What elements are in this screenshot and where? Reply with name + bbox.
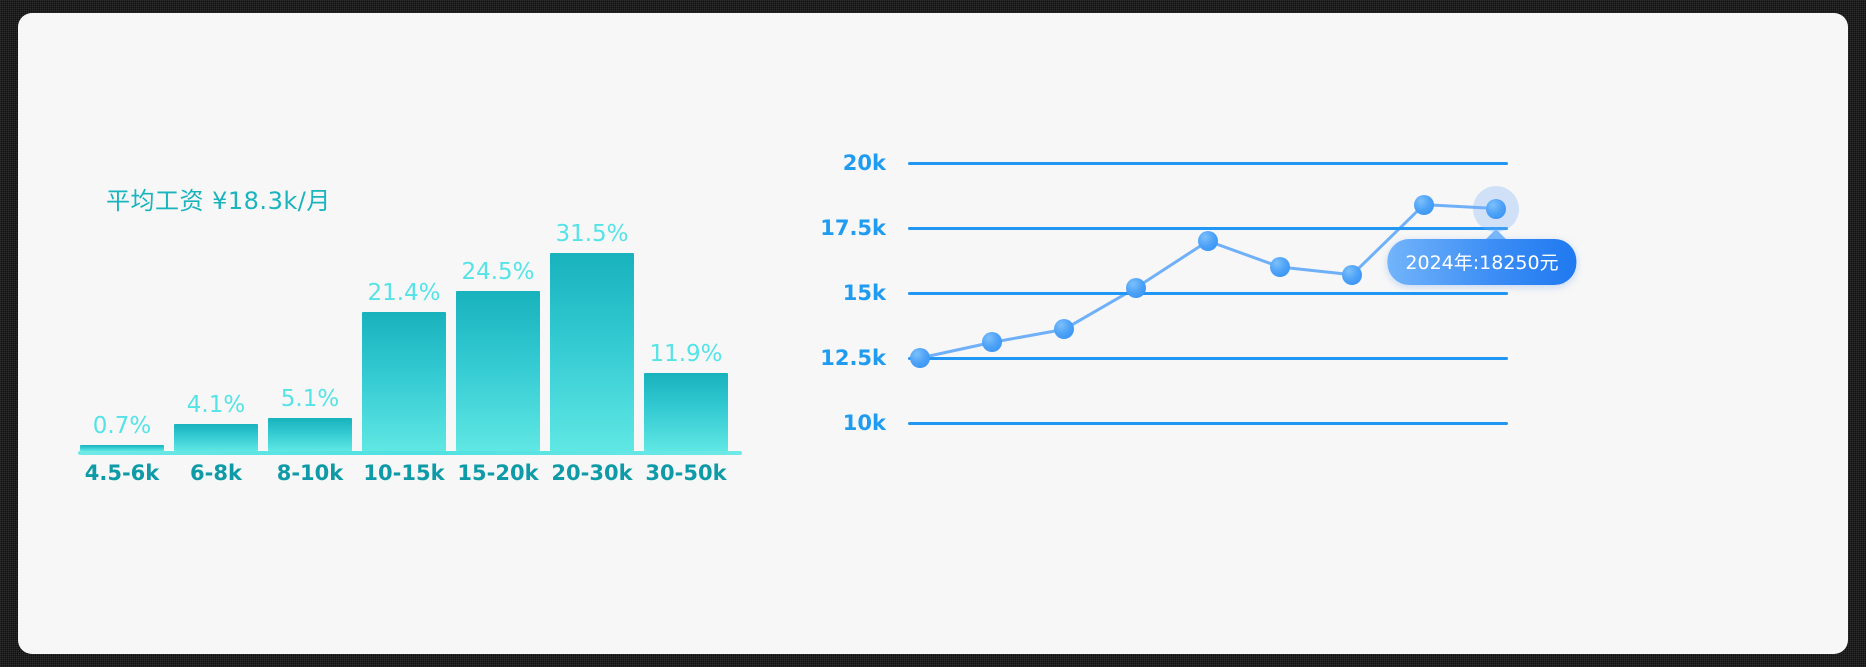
bar-group[interactable]: 31.5% xyxy=(550,223,634,451)
bar-rect[interactable] xyxy=(550,253,634,451)
y-axis-tick-label: 20k xyxy=(798,151,886,175)
bar-rect[interactable] xyxy=(174,424,258,451)
bar-category-label: 30-50k xyxy=(631,461,741,485)
bar-rect[interactable] xyxy=(362,312,446,451)
data-point-marker[interactable] xyxy=(1054,319,1074,339)
bar-value-label: 0.7% xyxy=(93,415,151,438)
gridline xyxy=(908,422,1508,425)
bar-rect[interactable] xyxy=(268,418,352,451)
chart-card: 平均工资 ¥18.3k/月 0.7%4.1%5.1%21.4%24.5%31.5… xyxy=(18,13,1848,654)
y-axis-tick-label: 12.5k xyxy=(798,346,886,370)
bar-group[interactable]: 5.1% xyxy=(268,223,352,451)
bar-baseline-axis xyxy=(78,451,742,455)
data-point-marker[interactable] xyxy=(910,348,930,368)
bar-chart-title: 平均工资 ¥18.3k/月 xyxy=(106,181,331,216)
data-point-marker[interactable] xyxy=(1414,195,1434,215)
point-tooltip: 2024年:18250元 xyxy=(1387,239,1576,285)
bar-value-label: 4.1% xyxy=(187,394,245,417)
y-axis-tick-label: 17.5k xyxy=(798,216,886,240)
bar-rect[interactable] xyxy=(456,291,540,451)
bar-group[interactable]: 0.7% xyxy=(80,223,164,451)
bar-value-label: 21.4% xyxy=(367,282,440,305)
bar-value-label: 5.1% xyxy=(281,388,339,411)
line-plot-area: 2024年:18250元 xyxy=(908,163,1508,423)
bar-group[interactable]: 11.9% xyxy=(644,223,728,451)
salary-distribution-bar-chart: 平均工资 ¥18.3k/月 0.7%4.1%5.1%21.4%24.5%31.5… xyxy=(58,163,778,503)
gridline xyxy=(908,227,1508,230)
bar-group[interactable]: 4.1% xyxy=(174,223,258,451)
data-point-marker[interactable] xyxy=(1342,265,1362,285)
data-point-marker[interactable] xyxy=(982,332,1002,352)
bar-value-label: 24.5% xyxy=(461,261,534,284)
data-point-marker[interactable] xyxy=(1270,257,1290,277)
bar-group[interactable]: 24.5% xyxy=(456,223,540,451)
screenshot-root: 平均工资 ¥18.3k/月 0.7%4.1%5.1%21.4%24.5%31.5… xyxy=(0,0,1866,667)
bar-group[interactable]: 21.4% xyxy=(362,223,446,451)
bar-rect[interactable] xyxy=(644,373,728,451)
gridline xyxy=(908,292,1508,295)
y-axis-tick-label: 15k xyxy=(798,281,886,305)
gridline xyxy=(908,357,1508,360)
bar-plot-area: 0.7%4.1%5.1%21.4%24.5%31.5%11.9% xyxy=(80,223,740,451)
salary-trend-line-chart: 2024年:18250元 20k17.5k15k12.5k10k xyxy=(798,163,1538,463)
data-point-marker[interactable] xyxy=(1126,278,1146,298)
data-point-marker[interactable] xyxy=(1198,231,1218,251)
bar-value-label: 31.5% xyxy=(555,223,628,246)
data-point-marker[interactable] xyxy=(1486,199,1506,219)
y-axis-tick-label: 10k xyxy=(798,411,886,435)
gridline xyxy=(908,162,1508,165)
bar-value-label: 11.9% xyxy=(649,343,722,366)
